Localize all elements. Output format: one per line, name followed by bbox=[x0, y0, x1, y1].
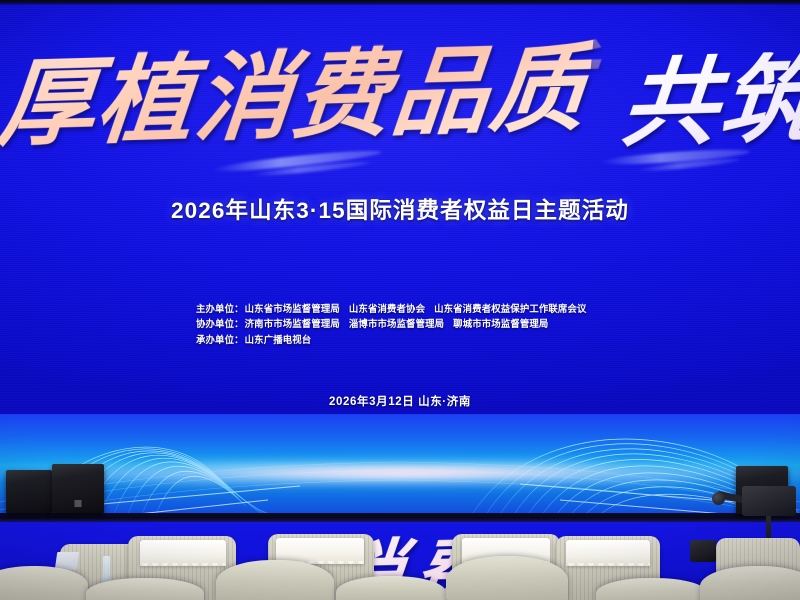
lace-chair-cover bbox=[566, 540, 650, 566]
led-wave-graphic-band bbox=[0, 414, 800, 520]
credit-row-host: 主办单位：山东省市场监督管理局山东省消费者协会山东省消费者权益保护工作联席会议 bbox=[196, 301, 596, 316]
credit-label: 承办单位： bbox=[196, 334, 244, 345]
horizon-light-core bbox=[190, 464, 630, 480]
event-subtitle: 2026年山东3·15国际消费者权益日主题活动 bbox=[0, 193, 800, 225]
credit-org: 聊城市市场监督管理局 bbox=[453, 318, 548, 329]
credit-org: 山东省消费者权益保护工作联席会议 bbox=[434, 303, 586, 314]
credit-label: 协办单位： bbox=[196, 318, 244, 329]
water-bottle bbox=[103, 556, 110, 582]
credit-org: 山东省市场监督管理局 bbox=[245, 303, 340, 314]
audience-chair-front bbox=[596, 578, 708, 600]
credit-org: 济南市市场监督管理局 bbox=[245, 318, 340, 329]
credit-org: 山东省消费者协会 bbox=[349, 303, 425, 314]
camera-rig-body bbox=[742, 486, 796, 516]
event-dateline: 2026年3月12日 山东·济南 bbox=[0, 393, 800, 409]
credit-label: 主办单位： bbox=[196, 303, 244, 314]
stage-monitor-speaker-left bbox=[52, 464, 104, 513]
lace-chair-cover bbox=[140, 540, 226, 566]
credit-org: 淄博市市场监督管理局 bbox=[349, 318, 444, 329]
audience-chair-front bbox=[216, 560, 334, 600]
stage-monitor-speaker-left-outer bbox=[6, 470, 52, 513]
audience-chair-front bbox=[336, 576, 446, 600]
audience-chair-front bbox=[86, 578, 204, 600]
speaker-badge bbox=[75, 500, 82, 507]
audience-chair-front bbox=[700, 566, 800, 600]
credit-row-coorganizer: 协办单位：济南市市场监督管理局淄博市市场监督管理局聊城市市场监督管理局 bbox=[196, 316, 596, 331]
equipment-case bbox=[690, 540, 716, 562]
headline-right-segment: 共筑放心消费 bbox=[617, 40, 800, 152]
ceiling-bezel-strip bbox=[0, 0, 800, 5]
credit-org: 山东广播电视台 bbox=[245, 334, 312, 345]
credit-row-undertaker: 承办单位：山东广播电视台 bbox=[196, 332, 596, 347]
camera-rig-joint bbox=[712, 492, 725, 505]
headline-calligraphy: 厚植消费品质 共筑放心消费 bbox=[0, 48, 800, 144]
stage-photo: 厚植消费品质 共筑放心消费 2026年山东3·15国际消费者权益日主题活动 主办… bbox=[0, 0, 800, 600]
headline-left-segment: 厚植消费品质 bbox=[0, 40, 593, 152]
stage-front-edge bbox=[0, 513, 800, 522]
audience-chair-front bbox=[446, 556, 568, 600]
organizer-credits: 主办单位：山东省市场监督管理局山东省消费者协会山东省消费者权益保护工作联席会议 … bbox=[196, 301, 596, 347]
